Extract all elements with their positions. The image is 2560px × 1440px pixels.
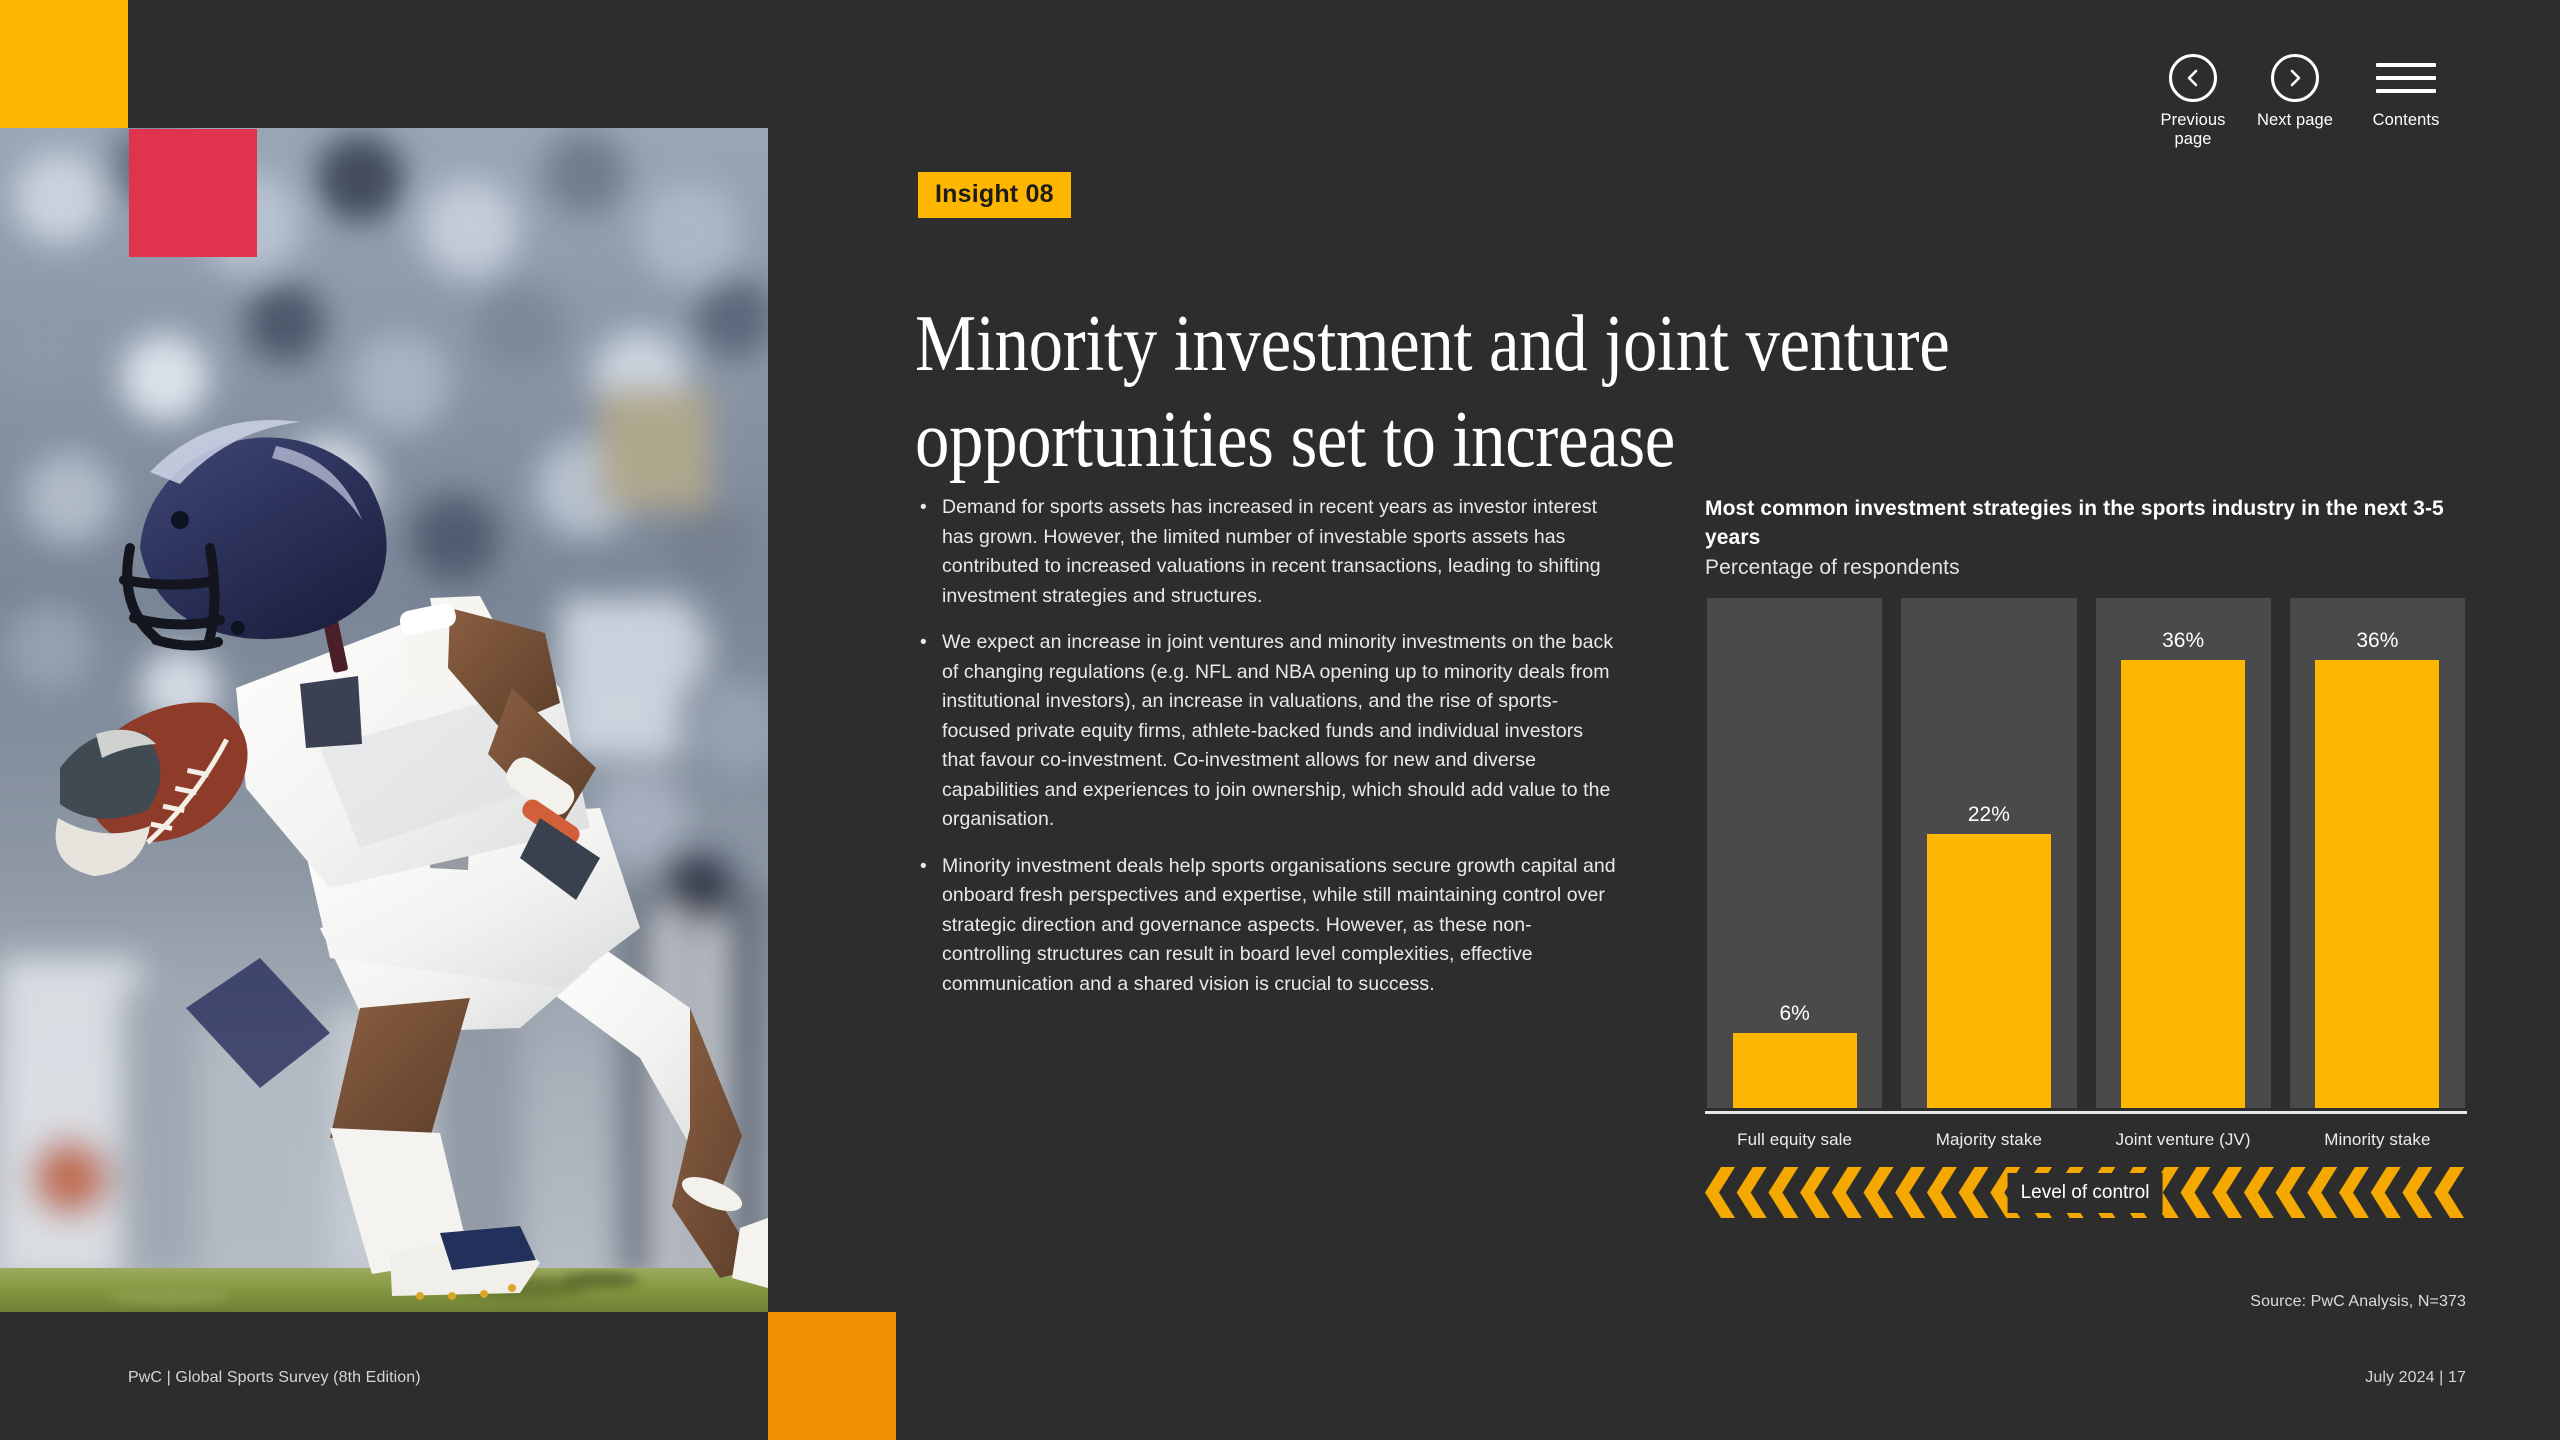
bullet-dot: •	[920, 852, 942, 1000]
bar-majority-stake	[1927, 834, 2051, 1108]
insight-badge: Insight 08	[918, 172, 1071, 218]
chart-container: Most common investment strategies in the…	[1705, 494, 2465, 1218]
bar-value-label: 6%	[1779, 1002, 1809, 1026]
chevron-right-icon	[2271, 54, 2319, 102]
footer-left: PwC | Global Sports Survey (8th Edition)	[128, 1368, 421, 1388]
bar-track: 36%	[2096, 598, 2271, 1108]
x-tick-label: Full equity sale	[1707, 1129, 1882, 1151]
x-axis-labels: Full equity sale Majority stake Joint ve…	[1705, 1129, 2465, 1151]
bar-value-label: 36%	[2162, 629, 2204, 653]
footer-right: July 2024 | 17	[2365, 1368, 2466, 1388]
contents-button[interactable]: Contents	[2346, 54, 2466, 130]
next-page-button[interactable]: Next page	[2244, 54, 2346, 130]
bar-value-label: 36%	[2356, 629, 2398, 653]
bullet-text: We expect an increase in joint ventures …	[942, 628, 1620, 835]
x-tick-label: Minority stake	[2290, 1129, 2465, 1151]
bar-value-label: 22%	[1968, 803, 2010, 827]
bullet-text: Demand for sports assets has increased i…	[942, 493, 1620, 611]
list-item: • Minority investment deals help sports …	[920, 852, 1620, 1000]
x-tick-label: Majority stake	[1901, 1129, 2076, 1151]
bullet-text: Minority investment deals help sports or…	[942, 852, 1620, 1000]
hero-photo	[0, 128, 768, 1312]
x-tick-label: Joint venture (JV)	[2096, 1129, 2271, 1151]
decor-block-orange	[768, 1312, 896, 1440]
top-navigation: Previous page Next page Contents	[2142, 54, 2466, 149]
x-axis-line	[1705, 1111, 2467, 1114]
bar-minority-stake	[2315, 660, 2439, 1108]
hamburger-icon	[2376, 54, 2436, 102]
decor-block-red	[129, 129, 257, 257]
previous-page-label: Previous page	[2142, 111, 2244, 149]
page-title: Minority investment and joint venture op…	[915, 296, 2136, 488]
bar-chart-plot: 6% 22% 36% 36%	[1705, 598, 2465, 1119]
previous-page-button[interactable]: Previous page	[2142, 54, 2244, 149]
bar-full-equity-sale	[1733, 1033, 1857, 1108]
list-item: • Demand for sports assets has increased…	[920, 493, 1620, 611]
next-page-label: Next page	[2257, 111, 2333, 130]
decor-block-yellow	[0, 0, 128, 128]
level-of-control-label: Level of control	[2008, 1173, 2163, 1213]
bar-joint-venture	[2121, 660, 2245, 1108]
chart-title: Most common investment strategies in the…	[1705, 494, 2465, 552]
bar-track: 6%	[1707, 598, 1882, 1108]
bar-track: 22%	[1901, 598, 2076, 1108]
body-copy: • Demand for sports assets has increased…	[920, 493, 1620, 999]
bar-track: 36%	[2290, 598, 2465, 1108]
bar-tracks: 6% 22% 36% 36%	[1707, 598, 2465, 1108]
chart-source: Source: PwC Analysis, N=373	[2250, 1292, 2466, 1312]
level-of-control-band: Level of control	[1705, 1167, 2465, 1218]
bullet-dot: •	[920, 628, 942, 835]
chart-subtitle: Percentage of respondents	[1705, 553, 2465, 582]
contents-label: Contents	[2373, 111, 2440, 130]
bullet-dot: •	[920, 493, 942, 611]
chevron-left-icon	[2169, 54, 2217, 102]
list-item: • We expect an increase in joint venture…	[920, 628, 1620, 835]
slide-page: Previous page Next page Contents Insight…	[0, 0, 2560, 1440]
